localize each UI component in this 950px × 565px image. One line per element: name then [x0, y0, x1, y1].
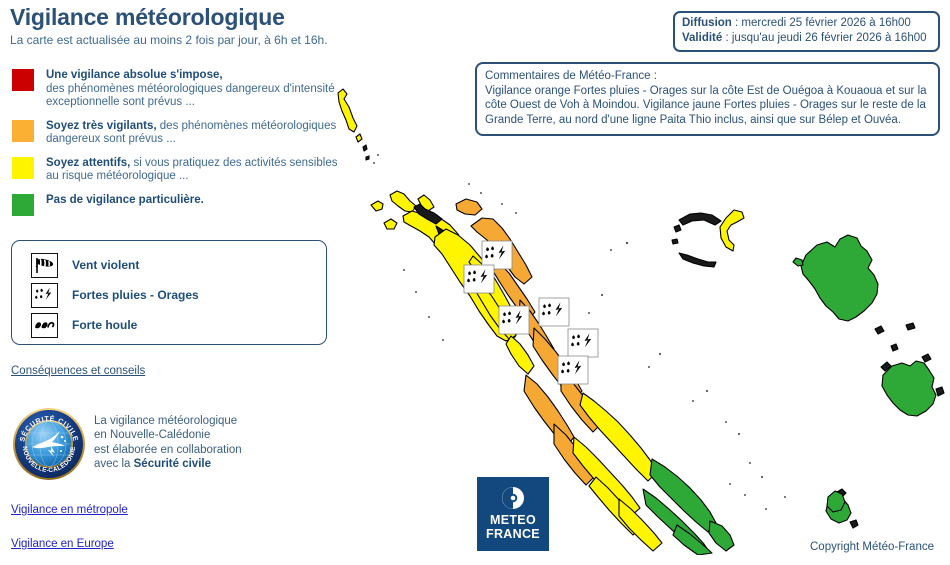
vigilance-map[interactable]: [330, 85, 950, 555]
pheno-label-rain-storm: Fortes pluies - Orages: [72, 288, 199, 302]
swatch-green: [12, 194, 34, 216]
securite-civile-text: La vigilance météorologique en Nouvelle-…: [94, 406, 242, 471]
legend-rest-red: des phénomènes météorologiques dangereux…: [46, 83, 335, 109]
page-subtitle: La carte est actualisée au moins 2 fois …: [10, 33, 328, 47]
legend-item-orange: Soyez très vigilants, des phénomènes mét…: [12, 119, 342, 147]
legend-item-red: Une vigilance absolue s'impose, des phén…: [12, 68, 342, 110]
diffusion-row: Diffusion : mercredi 25 février 2026 à 1…: [682, 16, 931, 31]
bulletin-date-box: Diffusion : mercredi 25 février 2026 à 1…: [673, 11, 940, 52]
storm-icon-3: [499, 306, 529, 334]
map-region-ouvea[interactable]: [672, 210, 744, 267]
map-region-lifou[interactable]: [793, 235, 878, 321]
page-title: Vigilance météorologique: [10, 4, 285, 31]
sc-line-4-strong: Sécurité civile: [134, 458, 211, 470]
sc-line-2: en Nouvelle-Calédonie: [94, 429, 210, 441]
pheno-label-swell: Forte houle: [72, 318, 137, 332]
map-islets-loyalty: [875, 323, 915, 351]
meteo-france-logo: METEO FRANCE: [477, 477, 549, 551]
storm-icon-5: [568, 329, 598, 357]
swatch-yellow: [12, 157, 34, 179]
validite-value: : jusqu'au jeudi 26 février 2026 à 16h00: [722, 32, 926, 44]
sc-line-3: est élaborée en collaboration: [94, 444, 242, 456]
sc-line-4-prefix: avec la: [94, 458, 134, 470]
sc-line-1: La vigilance météorologique: [94, 415, 237, 427]
diffusion-value: : mercredi 25 février 2026 à 16h00: [732, 17, 911, 29]
comments-title: Commentaires de Météo-France :: [485, 69, 930, 84]
legend-text-red: Une vigilance absolue s'impose, des phén…: [46, 68, 342, 110]
meteo-france-line-1: METEO: [477, 514, 549, 528]
securite-civile-logo: SÉCURITÉ CIVILE NOUVELLE-CALÉDONIE: [11, 406, 87, 482]
pheno-item-swell: Forte houle: [12, 310, 326, 340]
heavy-swell-icon: [31, 313, 58, 338]
copyright-text: Copyright Météo-France: [810, 541, 934, 553]
wind-sock-icon: [31, 253, 58, 278]
pheno-label-wind: Vent violent: [72, 258, 139, 272]
legend-item-green: Pas de vigilance particulière.: [12, 193, 342, 216]
map-region-belep[interactable]: [338, 89, 369, 160]
legend-strong-green: Pas de vigilance particulière.: [46, 194, 204, 206]
legend-strong-red: Une vigilance absolue s'impose,: [46, 69, 223, 81]
storm-icon-6: [558, 356, 588, 384]
validite-row: Validité : jusqu'au jeudi 26 février 202…: [682, 31, 931, 46]
securite-civile-block: SÉCURITÉ CIVILE NOUVELLE-CALÉDONIE La vi…: [11, 406, 331, 482]
vigilance-page: Vigilance météorologique La carte est ac…: [0, 0, 950, 565]
diffusion-label: Diffusion: [682, 17, 732, 29]
link-consequences-et-conseils[interactable]: Conséquences et conseils: [11, 365, 145, 377]
legend-strong-orange: Soyez très vigilants,: [46, 120, 157, 132]
legend-item-yellow: Soyez attentifs, si vous pratiquez des a…: [12, 156, 342, 184]
swatch-orange: [12, 120, 34, 142]
validite-label: Validité: [682, 32, 722, 44]
storm-icon-2: [464, 265, 494, 293]
pheno-item-rain-storm: Fortes pluies - Orages: [12, 280, 326, 310]
rain-storm-icon: [31, 283, 58, 308]
swatch-red: [12, 69, 34, 91]
map-region-west-orange-south[interactable]: [524, 375, 595, 485]
legend-text-orange: Soyez très vigilants, des phénomènes mét…: [46, 119, 342, 147]
link-vigilance-europe[interactable]: Vigilance en Europe: [11, 538, 114, 550]
legend-strong-yellow: Soyez attentifs,: [46, 157, 130, 169]
phenomenon-legend: Vent violent Fortes pluies - Orages: [11, 240, 327, 345]
map-region-ouegoa-pouebo[interactable]: [456, 199, 482, 215]
legend-text-green: Pas de vigilance particulière.: [46, 193, 204, 208]
meteo-france-mark-icon: [501, 486, 525, 510]
storm-icon-4: [539, 298, 569, 326]
legend-text-yellow: Soyez attentifs, si vous pratiquez des a…: [46, 156, 342, 184]
meteo-france-line-2: FRANCE: [477, 528, 549, 542]
link-vigilance-metropole[interactable]: Vigilance en métropole: [11, 504, 128, 516]
map-region-mare[interactable]: [881, 354, 944, 416]
color-level-legend: Une vigilance absolue s'impose, des phén…: [12, 68, 342, 225]
pheno-item-wind: Vent violent: [12, 250, 326, 280]
